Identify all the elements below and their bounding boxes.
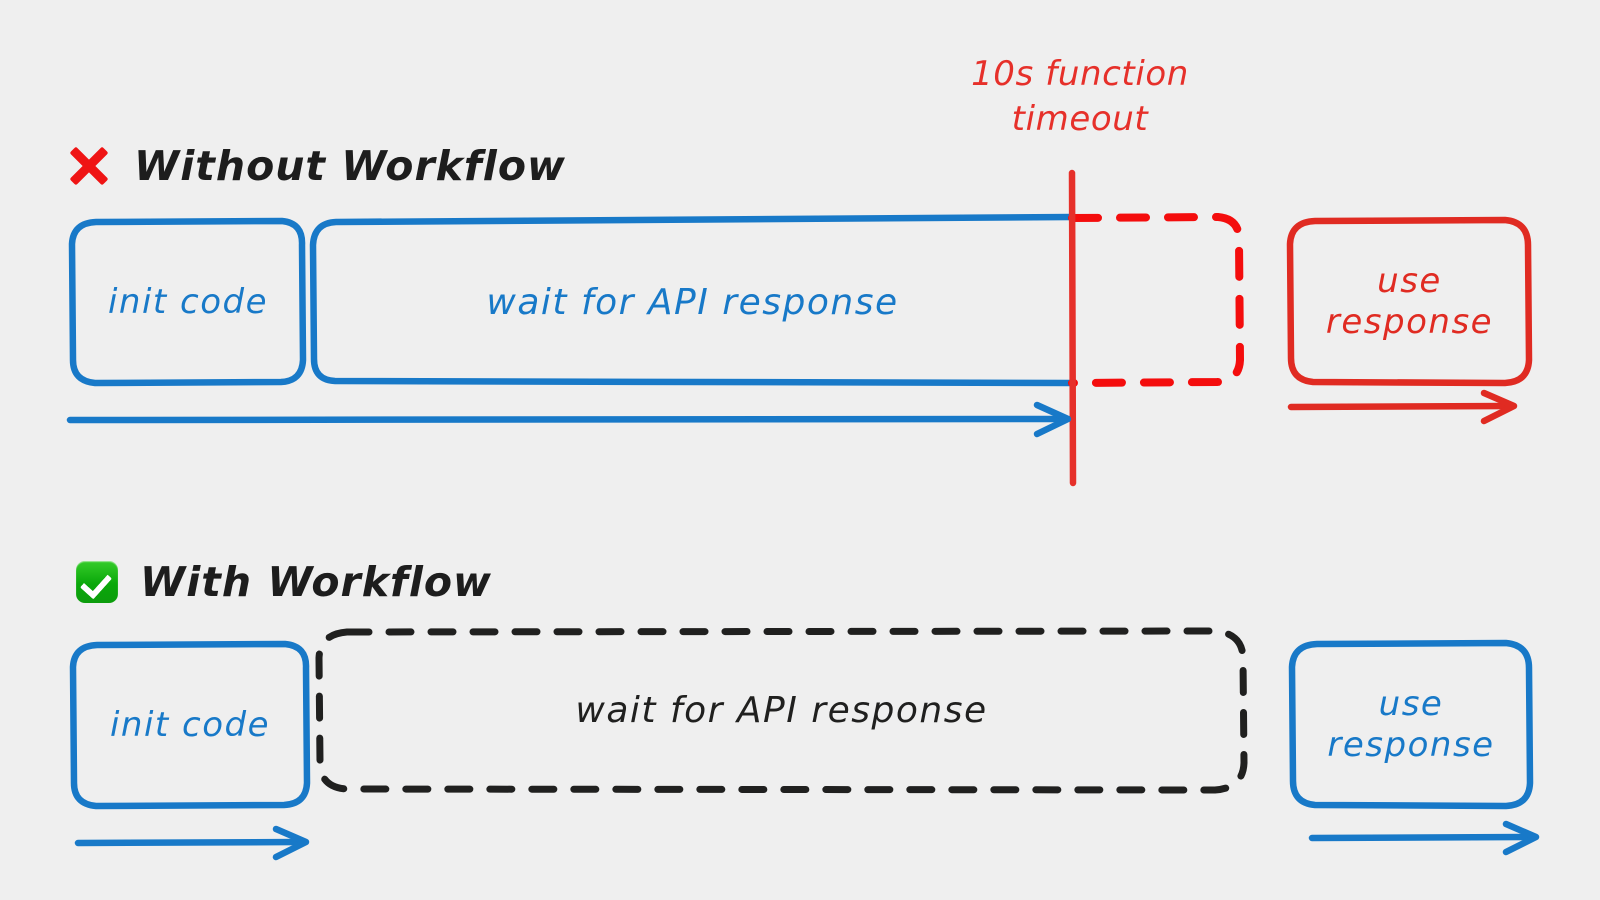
row1-overrun-dashed-region [1072, 217, 1240, 383]
timeout-annotation: 10s function timeout [945, 52, 1215, 142]
section-heading-without-workflow: Without Workflow [66, 142, 566, 190]
green-check-icon [76, 561, 118, 603]
row1-blue-execution-arrow [70, 405, 1068, 434]
row2-wait-api-label: wait for API response [319, 631, 1244, 790]
red-cross-icon [66, 143, 112, 189]
row2-blue-init-arrow [78, 829, 306, 857]
section-heading-label: Without Workflow [134, 142, 566, 190]
diagram-canvas: 10s function timeout Without Workflow in… [0, 0, 1600, 900]
section-heading-with-workflow: With Workflow [76, 558, 492, 606]
row1-red-unreachable-arrow [1291, 393, 1514, 421]
row2-init-code-label: init code [74, 645, 306, 806]
row2-use-response-label: use response [1292, 644, 1530, 806]
row2-blue-resume-arrow [1312, 824, 1536, 852]
timeout-vertical-line [1072, 173, 1073, 483]
row1-wait-api-label: wait for API response [313, 222, 1072, 383]
row1-use-response-label: use response [1290, 221, 1529, 383]
row1-init-code-label: init code [73, 222, 303, 383]
section-heading-label: With Workflow [140, 558, 492, 606]
